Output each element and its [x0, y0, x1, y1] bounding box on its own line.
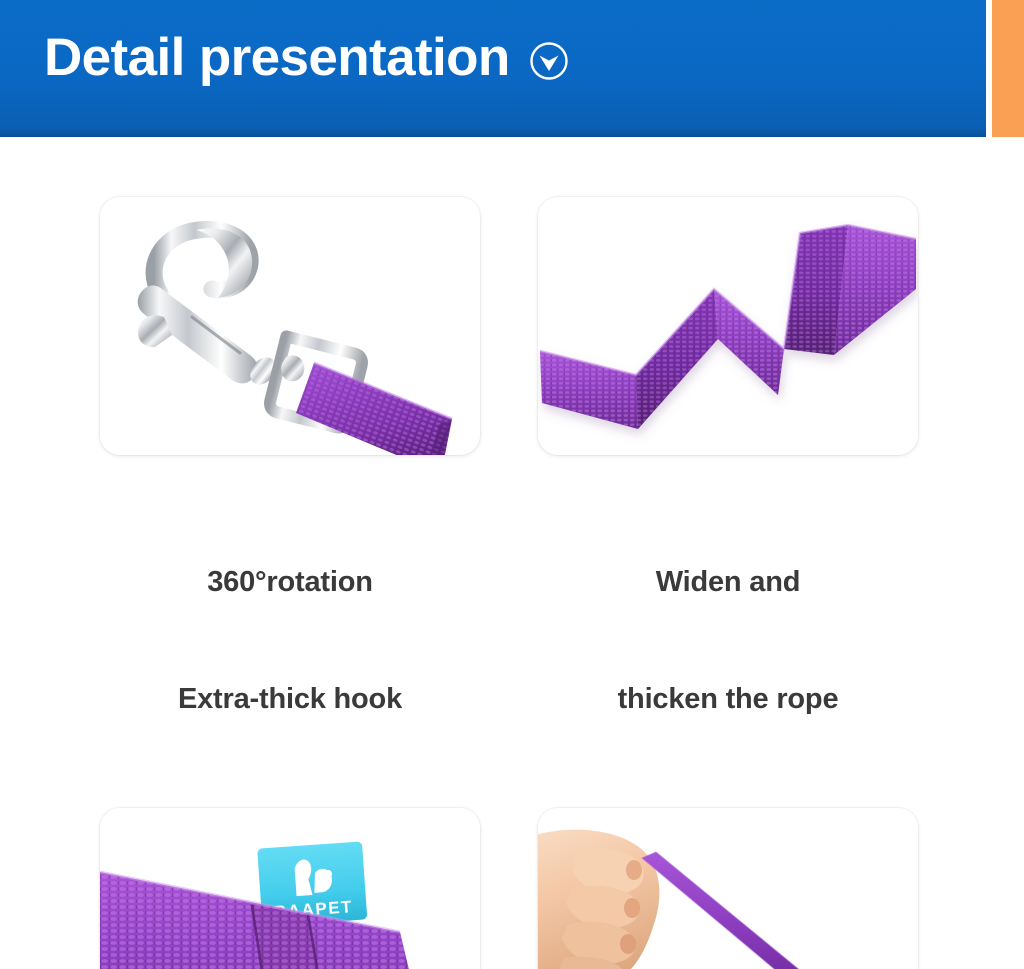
brand-tag-photo: BAAPET: [100, 808, 480, 969]
caption-line-2: Extra-thick hook: [100, 680, 480, 719]
feature-grid: 360°rotation Extra-thick hook: [0, 197, 1024, 969]
card-caption: Widen and thicken the rope: [538, 485, 918, 797]
caption-line-2: thicken the rope: [538, 680, 918, 719]
feature-card-durable-nylon: BAAPET: [100, 808, 480, 969]
photo-card[interactable]: BAAPET: [100, 808, 480, 969]
photo-card[interactable]: [538, 808, 918, 969]
product-detail-page: Detail presentation: [0, 0, 1024, 969]
chevron-down-circle-icon[interactable]: [528, 40, 570, 82]
caption-line-1: Widen and: [538, 563, 918, 602]
feature-card-360-rotation: 360°rotation Extra-thick hook: [100, 197, 480, 797]
page-title: Detail presentation: [44, 26, 510, 90]
card-caption: 360°rotation Extra-thick hook: [100, 485, 480, 797]
hand-holding-leash-photo: [538, 808, 918, 969]
header-banner: Detail presentation: [0, 0, 1024, 140]
photo-card[interactable]: [100, 197, 480, 455]
photo-card[interactable]: [538, 197, 918, 455]
snap-hook-photo: [100, 197, 480, 455]
header-title-group: Detail presentation: [44, 26, 570, 90]
caption-line-1: 360°rotation: [100, 563, 480, 602]
feature-card-nice-to-hold: Nice to hold, not too tired to walk the …: [538, 808, 918, 969]
webbing-strap-photo: [538, 197, 918, 455]
feature-card-widen-rope: Widen and thicken the rope: [538, 197, 918, 797]
header-accent-bar: [992, 0, 1024, 137]
